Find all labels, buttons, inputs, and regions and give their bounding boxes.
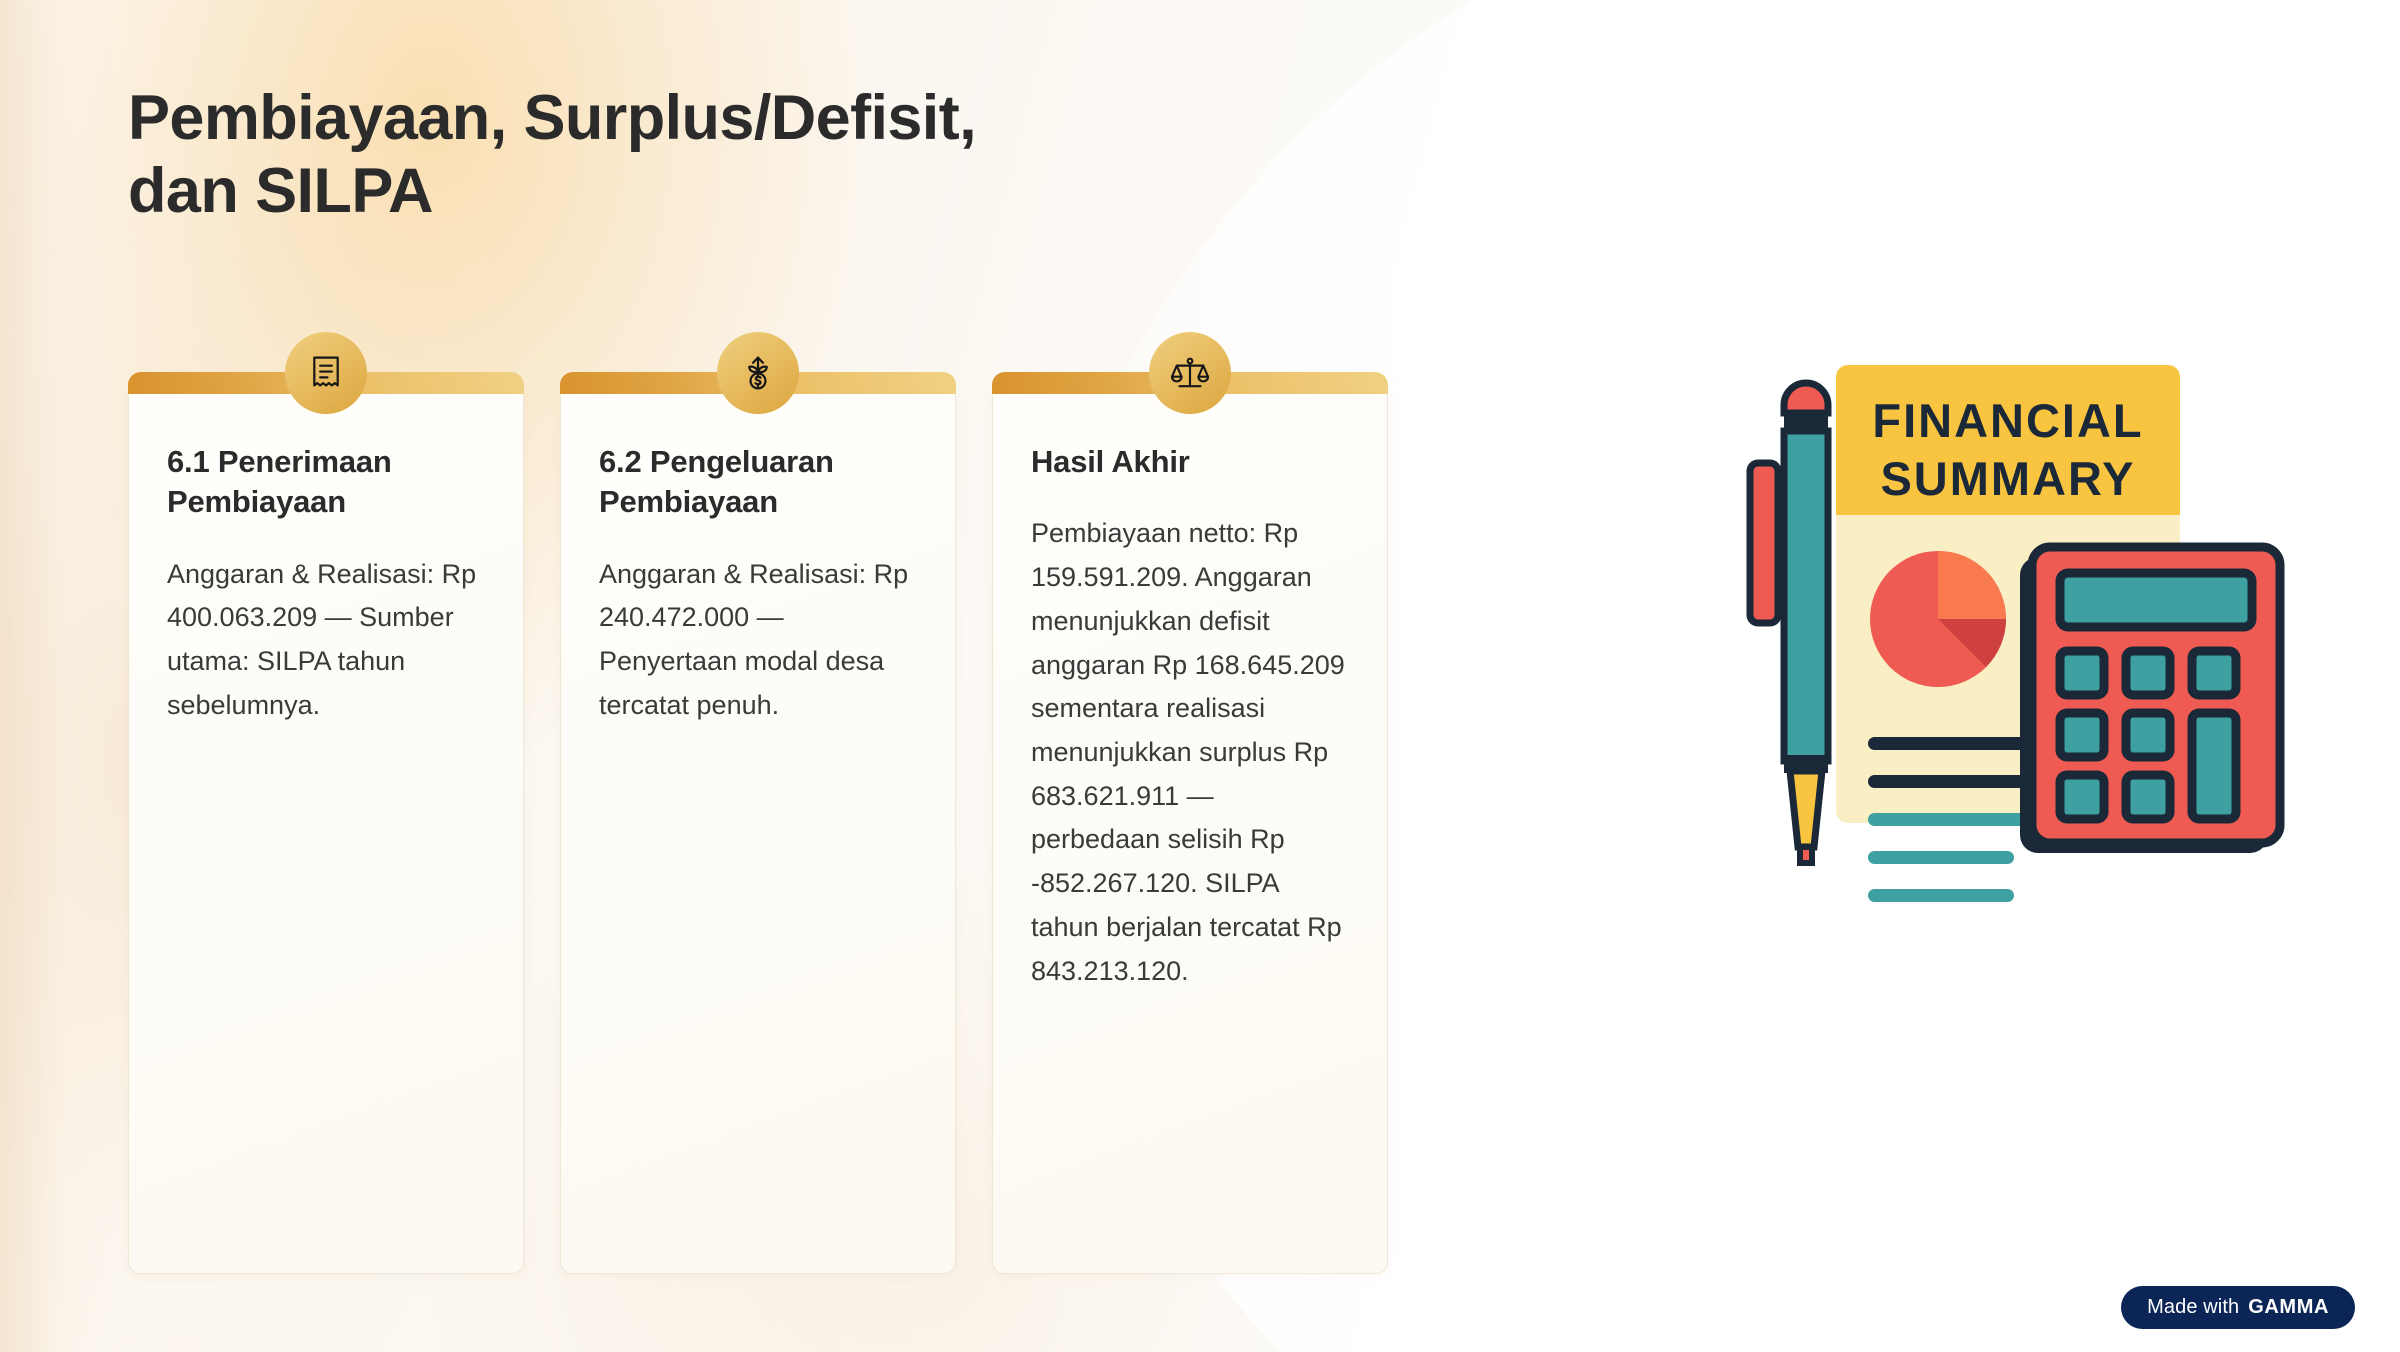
receipt-icon: [285, 332, 367, 414]
card-text: Pembiayaan netto: Rp 159.591.209. Anggar…: [1031, 512, 1349, 993]
document-heading-line-1: FINANCIAL: [1872, 394, 2143, 447]
card-title: Hasil Akhir: [1031, 442, 1349, 482]
page-title-line-1: Pembiayaan, Surplus/Defisit,: [128, 83, 976, 153]
pie-chart-graphic: [1870, 551, 2006, 687]
money-growth-icon: [717, 332, 799, 414]
gamma-logo-text: GAMMA: [2248, 1296, 2329, 1319]
calculator-illustration: [2020, 547, 2280, 853]
background-left-edge-tint: [0, 0, 120, 1352]
card-title: 6.1 Penerimaan Pembiayaan: [167, 442, 485, 523]
page-title-line-2: dan SILPA: [128, 156, 433, 226]
calculator-display: [2060, 573, 2252, 627]
made-with-gamma-badge[interactable]: Made with GAMMA: [2121, 1286, 2355, 1329]
card-hasil-akhir[interactable]: Hasil Akhir Pembiayaan netto: Rp 159.591…: [992, 372, 1388, 1274]
card-pengeluaran-pembiayaan[interactable]: 6.2 Pengeluaran Pembiayaan Anggaran & Re…: [560, 372, 956, 1274]
card-body: 6.2 Pengeluaran Pembiayaan Anggaran & Re…: [560, 394, 956, 1274]
cards-row: 6.1 Penerimaan Pembiayaan Anggaran & Rea…: [128, 372, 1388, 1274]
card-text: Anggaran & Realisasi: Rp 240.472.000 — P…: [599, 553, 917, 728]
card-body: Hasil Akhir Pembiayaan netto: Rp 159.591…: [992, 394, 1388, 1274]
card-body: 6.1 Penerimaan Pembiayaan Anggaran & Rea…: [128, 394, 524, 1274]
page-title: Pembiayaan, Surplus/Defisit, dan SILPA: [128, 82, 1248, 228]
financial-summary-illustration: FINANCIAL SUMMARY: [1740, 355, 2300, 975]
card-text: Anggaran & Realisasi: Rp 400.063.209 — S…: [167, 553, 485, 728]
document-heading-line-2: SUMMARY: [1880, 452, 2135, 505]
pen-illustration: [1750, 383, 1828, 863]
made-with-label: Made with: [2147, 1296, 2239, 1319]
card-penerimaan-pembiayaan[interactable]: 6.1 Penerimaan Pembiayaan Anggaran & Rea…: [128, 372, 524, 1274]
balance-scale-icon: [1149, 332, 1231, 414]
card-title: 6.2 Pengeluaran Pembiayaan: [599, 442, 917, 523]
